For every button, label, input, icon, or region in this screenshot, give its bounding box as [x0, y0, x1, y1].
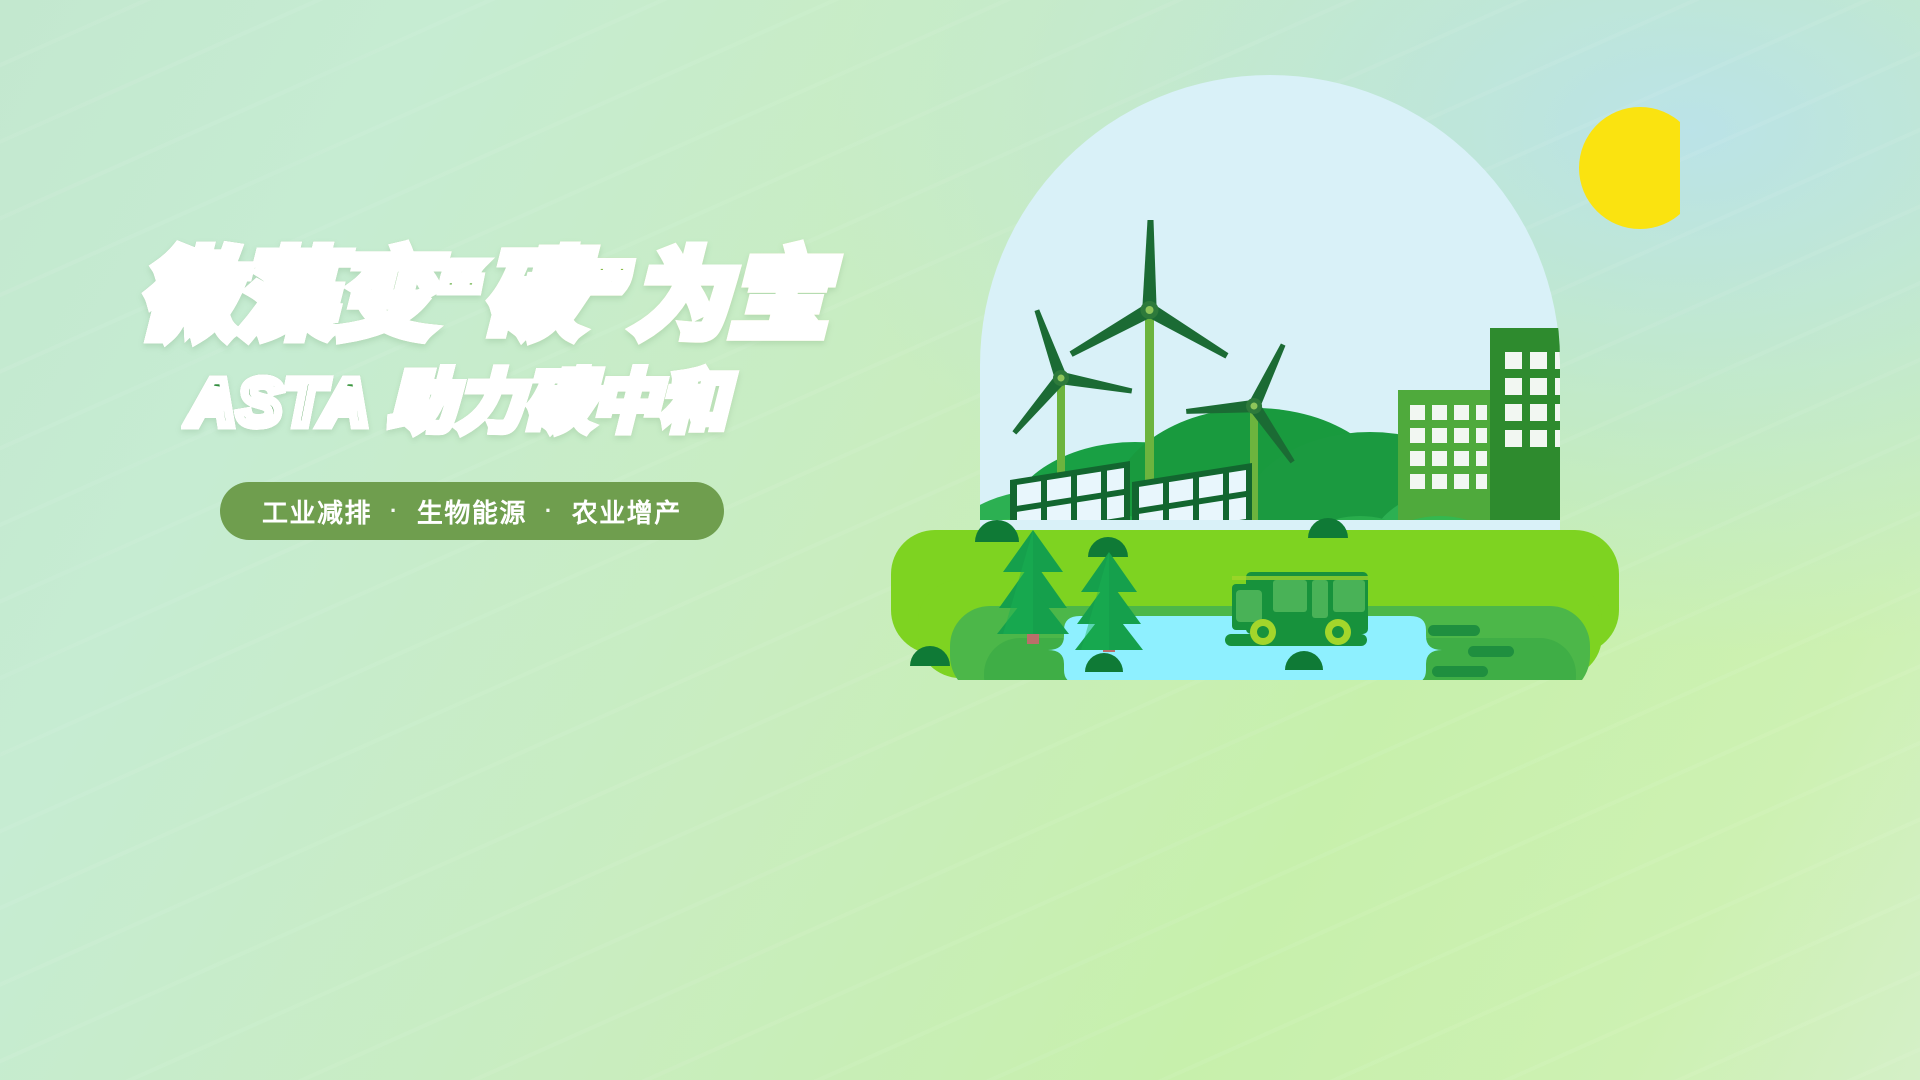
tagline-separator-icon: · — [390, 498, 399, 524]
ground-layers — [891, 518, 1619, 680]
sun-icon — [1579, 107, 1680, 229]
tagline-item-3: 农业增产 — [572, 493, 682, 530]
tagline-badge: 工业减排 · 生物能源 · 农业增产 — [220, 482, 724, 540]
eco-banner: 微藻变“碳”为宝 ASTA 助力碳中和 工业减排 · 生物能源 · 农业增产 — [0, 0, 1920, 1080]
bus-icon — [1225, 572, 1368, 646]
eco-city-illustration — [880, 60, 1680, 680]
headline-block: 微藻变“碳”为宝 ASTA 助力碳中和 工业减排 · 生物能源 · 农业增产 — [140, 240, 860, 540]
page-title: 微藻变“碳”为宝 — [140, 240, 860, 353]
tagline-item-1: 工业减排 — [262, 493, 372, 530]
tagline-separator-icon: · — [545, 498, 554, 524]
page-subtitle: ASTA 助力碳中和 — [188, 363, 860, 442]
tagline-item-2: 生物能源 — [417, 493, 527, 530]
